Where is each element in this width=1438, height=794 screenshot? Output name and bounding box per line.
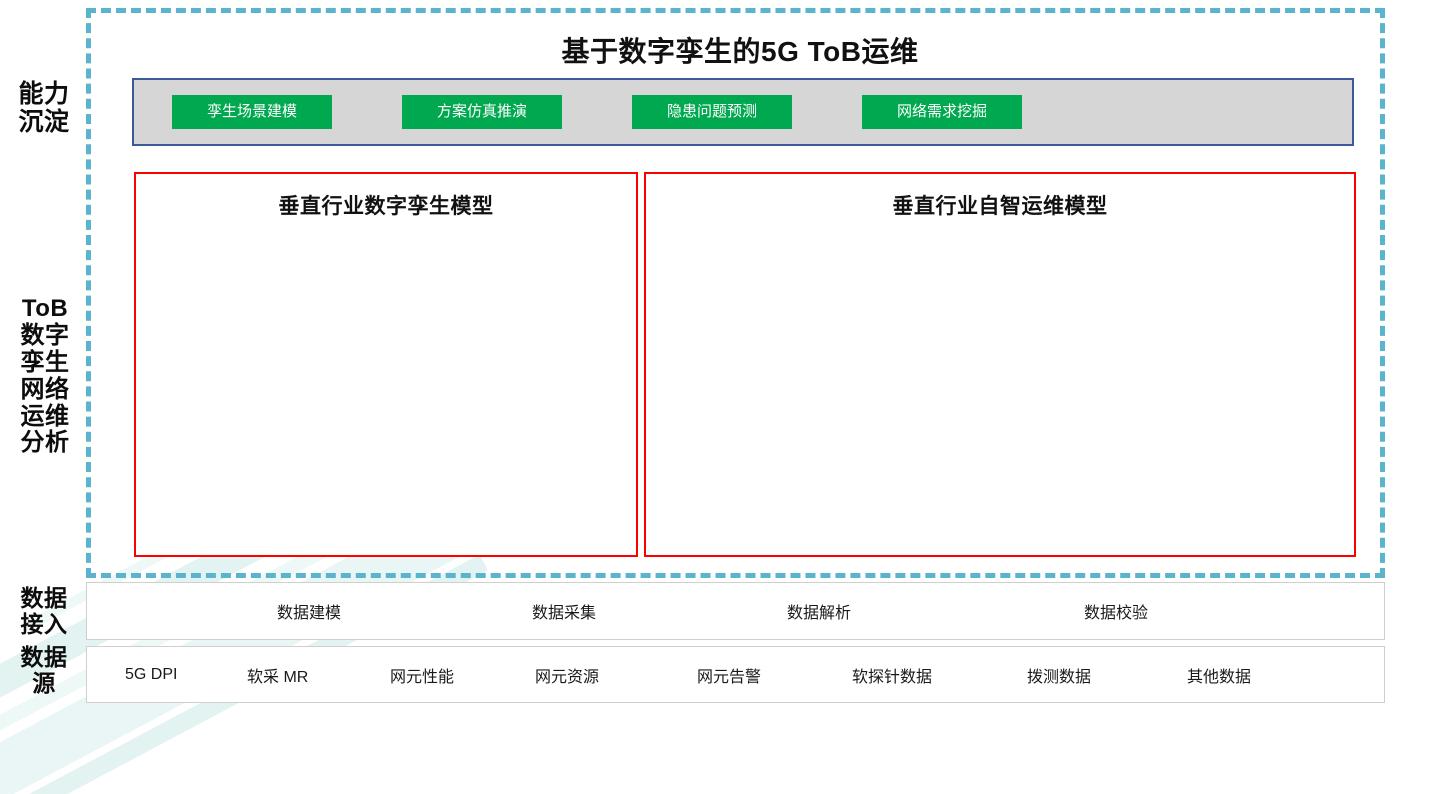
model-box-autonomous-ops: 垂直行业自智运维模型: [644, 172, 1356, 557]
rail-label-access-line1: 数据: [8, 586, 80, 612]
rail-label-tob-line: ToB: [6, 296, 84, 323]
rail-label-tob-line: 孪生: [6, 350, 84, 377]
capability-button-list: 孪生场景建模方案仿真推演隐患问题预测网络需求挖掘: [134, 80, 1352, 144]
rail-label-data-access: 数据 接入: [8, 586, 80, 638]
data-access-item: 数据采集: [532, 599, 596, 623]
rail-label-data-source: 数据 源: [8, 645, 80, 697]
data-source-item: 网元性能: [390, 663, 454, 687]
data-access-item-list: 数据建模数据采集数据解析数据校验: [87, 583, 1384, 639]
rail-label-access-line2: 接入: [8, 612, 80, 638]
data-source-item: 软采 MR: [247, 663, 308, 687]
rail-label-capability: 能力 沉淀: [8, 80, 80, 136]
rail-label-source-line1: 数据: [8, 645, 80, 671]
rail-label-tob-line: 运维: [6, 404, 84, 431]
data-source-item: 其他数据: [1187, 663, 1251, 687]
data-source-item: 网元资源: [535, 663, 599, 687]
data-source-item: 网元告警: [697, 663, 761, 687]
data-access-item: 数据解析: [787, 599, 851, 623]
data-access-row: 数据建模数据采集数据解析数据校验: [86, 582, 1385, 640]
model-left-title: 垂直行业数字孪生模型: [136, 190, 636, 220]
rail-label-source-line2: 源: [8, 671, 80, 697]
rail-label-tob-line: 数字: [6, 323, 84, 350]
data-access-item: 数据校验: [1084, 599, 1148, 623]
data-source-item: 软探针数据: [852, 663, 932, 687]
data-access-item: 数据建模: [277, 599, 341, 623]
page-title: 基于数字孪生的5G ToB运维: [120, 30, 1360, 70]
data-source-item: 5G DPI: [125, 666, 177, 684]
capability-strip: 孪生场景建模方案仿真推演隐患问题预测网络需求挖掘: [132, 78, 1354, 146]
data-source-row: 5G DPI软采 MR网元性能网元资源网元告警软探针数据拨测数据其他数据: [86, 646, 1385, 703]
capability-button[interactable]: 孪生场景建模: [172, 95, 332, 129]
capability-button[interactable]: 方案仿真推演: [402, 95, 562, 129]
rail-label-tob-line: 分析: [6, 430, 84, 457]
rail-label-tob-line: 网络: [6, 377, 84, 404]
rail-label-tob: ToB 数字 孪生 网络 运维 分析: [6, 296, 84, 457]
rail-label-capability-line1: 能力: [8, 80, 80, 108]
data-source-item: 拨测数据: [1027, 663, 1091, 687]
model-right-title: 垂直行业自智运维模型: [646, 190, 1354, 220]
capability-button[interactable]: 隐患问题预测: [632, 95, 792, 129]
capability-button[interactable]: 网络需求挖掘: [862, 95, 1022, 129]
data-source-item-list: 5G DPI软采 MR网元性能网元资源网元告警软探针数据拨测数据其他数据: [87, 647, 1384, 702]
slide-canvas: 能力 沉淀 ToB 数字 孪生 网络 运维 分析 数据 接入 数据 源 基于数字…: [0, 0, 1438, 734]
model-box-digital-twin: 垂直行业数字孪生模型: [134, 172, 638, 557]
rail-label-capability-line2: 沉淀: [8, 108, 80, 136]
